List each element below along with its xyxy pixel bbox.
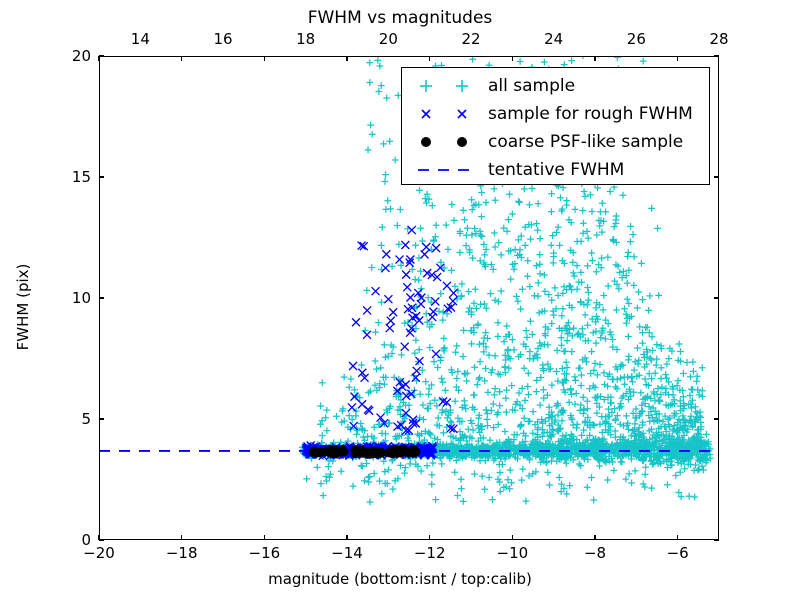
circle-icon [402,128,488,156]
x-tick-mark [346,535,347,540]
x-tick-mark [594,56,595,61]
y-tick-mark [714,539,719,540]
x-tick-label: −10 [497,544,529,562]
x-tick-label-top: 16 [213,30,232,48]
legend-item[interactable]: tentative FWHM [402,156,709,184]
legend-item[interactable]: sample for rough FWHM [402,100,709,128]
x-axis-label: magnitude (bottom:isnt / top:calib) [0,570,800,588]
y-tick-mark [714,418,719,419]
y-tick-mark [99,539,104,540]
x-tick-label-top: 18 [296,30,315,48]
y-tick-mark [99,176,104,177]
y-tick-mark [714,176,719,177]
legend-label: sample for rough FWHM [488,104,693,124]
plus-icon [402,72,488,100]
x-tick-mark [512,535,513,540]
x-tick-mark [181,56,182,61]
legend-item[interactable]: coarse PSF-like sample [402,128,709,156]
y-tick-label: 20 [51,47,91,65]
y-tick-label: 0 [51,531,91,549]
y-tick-label: 5 [51,410,91,428]
x-tick-mark [181,535,182,540]
legend[interactable]: all sample sample for rough FWHM c [401,67,710,185]
y-tick-label: 10 [51,289,91,307]
x-tick-mark [594,535,595,540]
legend-item[interactable]: all sample [402,72,709,100]
y-tick-mark [714,297,719,298]
x-tick-label-top: 28 [709,30,728,48]
x-tick-mark [512,56,513,61]
x-tick-label: −18 [166,544,198,562]
x-tick-mark [346,56,347,61]
x-tick-mark [677,535,678,540]
y-axis-label: FWHM (pix) [14,222,32,392]
y-tick-label: 15 [51,168,91,186]
cross-icon [402,100,488,128]
y-tick-mark [99,297,104,298]
x-tick-label: −12 [414,544,446,562]
x-tick-mark [264,56,265,61]
figure: FWHM vs magnitudes −20−18−16−14−12−10−8−… [0,0,800,600]
x-tick-label-top: 22 [461,30,480,48]
x-tick-mark [429,56,430,61]
x-tick-mark [98,56,99,61]
legend-label: coarse PSF-like sample [488,132,683,152]
legend-label: all sample [488,76,575,96]
x-tick-label-top: 24 [544,30,563,48]
x-tick-label: −6 [667,544,689,562]
legend-label: tentative FWHM [488,160,624,180]
x-tick-mark [429,535,430,540]
x-tick-mark [677,56,678,61]
y-tick-mark [99,418,104,419]
x-tick-label-top: 14 [131,30,150,48]
x-tick-label-top: 20 [379,30,398,48]
x-tick-label: −16 [249,544,281,562]
x-tick-label-top: 26 [627,30,646,48]
page-title: FWHM vs magnitudes [0,8,800,28]
x-tick-label: −8 [584,544,606,562]
y-tick-mark [99,55,104,56]
dashed-line-icon [402,156,488,184]
x-tick-mark [264,535,265,540]
y-tick-mark [714,55,719,56]
x-tick-label: −14 [331,544,363,562]
